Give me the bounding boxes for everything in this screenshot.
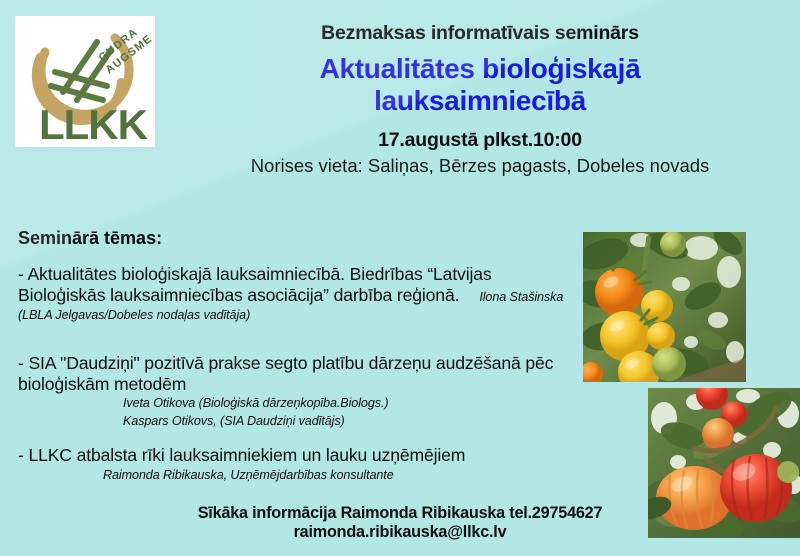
photo-tomatoes-ribbed-image (648, 388, 800, 538)
topic-item: - LLKC atbalsta rīki lauksaimniekiem un … (18, 445, 618, 483)
ribbed-tomato-left (656, 466, 732, 530)
topic-text: - SIA "Daudziņi" pozitīvā prakse segto p… (18, 353, 578, 394)
topic-byline: Kaspars Otikovs, (SIA Daudziņi vadītājs) (18, 414, 578, 429)
llkc-logo-graphic: GUDRA AUGSME LLKK (15, 16, 155, 147)
topic-byline: Raimonda Ribikauska, Uzņēmējdarbības kon… (18, 468, 618, 483)
poster-header: Bezmaksas informatīvais seminārs Aktuali… (160, 22, 800, 177)
page-title: Aktualitātes bioloģiskajā lauksaimniecīb… (160, 53, 800, 116)
page-title-line2: lauksaimniecībā (160, 85, 800, 116)
topics-heading: Seminārā tēmas: (18, 228, 162, 249)
event-venue: Norises vieta: Saliņas, Bērzes pagasts, … (160, 155, 800, 176)
contact-info: Sīkāka informācija Raimonda Ribikauska t… (160, 504, 640, 543)
kicker-text: Bezmaksas informatīvais seminārs (160, 22, 800, 44)
event-date: 17.augustā plkst.10:00 (160, 129, 800, 152)
topic-item: - Aktualitātes bioloģiskajā lauksaimniec… (18, 264, 578, 324)
llkc-logo: GUDRA AUGSME LLKK (15, 16, 155, 147)
contact-phone-line: Sīkāka informācija Raimonda Ribikauska t… (160, 504, 640, 523)
page-title-line1: Aktualitātes bioloģiskajā (160, 53, 800, 84)
contact-email[interactable]: raimonda.ribikauska@llkc.lv (160, 523, 640, 542)
topic-byline: Iveta Otikova (Bioloģiskā dārzeņkopība.B… (18, 396, 578, 411)
seminar-poster: GUDRA AUGSME LLKK Bezmaksas informatīvai… (0, 0, 800, 556)
logo-acronym: LLKK (39, 101, 148, 147)
photo-tomatoes-ribbed (648, 388, 800, 538)
topic-text: - LLKC atbalsta rīki lauksaimniekiem un … (18, 445, 618, 466)
photo-tomatoes-vine (583, 232, 746, 382)
photo-tomatoes-vine-image (583, 232, 746, 382)
topic-text: - Aktualitātes bioloģiskajā lauksaimniec… (18, 264, 492, 305)
topic-item: - SIA "Daudziņi" pozitīvā prakse segto p… (18, 353, 578, 429)
